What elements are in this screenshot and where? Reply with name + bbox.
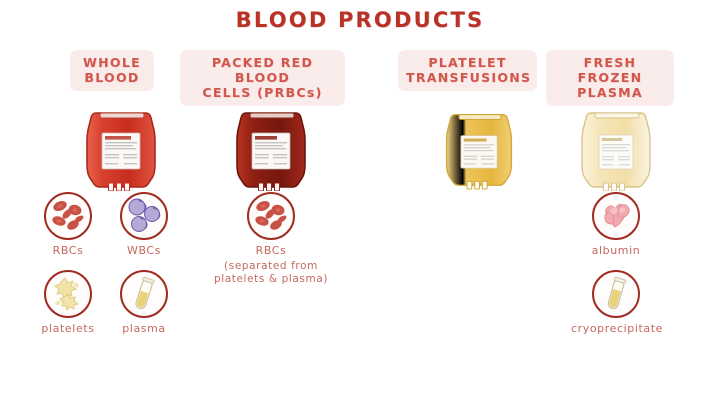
icon-circle-rbcs-separated [247,192,295,240]
whole-blood-bag [78,107,164,191]
header-line: PLASMA [554,85,666,100]
header-line: PLATELET [406,55,529,70]
caption-line: (separated from [196,260,346,273]
column-header-whole-blood: WHOLE BLOOD [70,50,154,91]
header-line: PACKED RED BLOOD [188,55,337,85]
prbc-bag [228,107,314,191]
infographic-canvas: BLOOD PRODUCTS WHOLE BLOOD PACKED RED BL… [0,0,720,404]
caption-platelets: platelets [30,322,106,335]
caption-albumin: albumin [582,244,650,257]
column-header-prbcs: PACKED RED BLOOD CELLS (PRBCs) [180,50,345,106]
icon-circle-albumin [592,192,640,240]
caption-rbcs-separated-detail: (separated from platelets & plasma) [196,260,346,286]
caption-rbcs: RBCs [34,244,102,257]
icon-circle-plasma [120,270,168,318]
header-line: FRESH FROZEN [554,55,666,85]
icon-circle-wbcs [120,192,168,240]
caption-plasma: plasma [108,322,180,335]
caption-cryoprecipitate: cryoprecipitate [558,322,676,335]
icon-circle-cryoprecipitate [592,270,640,318]
plasma-bag [573,107,659,191]
icon-circle-platelets [44,270,92,318]
header-line: TRANSFUSIONS [406,70,529,85]
column-header-fresh-frozen-plasma: FRESH FROZEN PLASMA [546,50,674,106]
caption-line: platelets & plasma) [196,273,346,286]
icon-circle-rbcs [44,192,92,240]
caption-rbcs-separated: RBCs [231,244,311,257]
header-line: WHOLE [78,55,146,70]
caption-wbcs: WBCs [110,244,178,257]
column-header-platelet-transfusions: PLATELET TRANSFUSIONS [398,50,537,91]
header-line: CELLS (PRBCs) [188,85,337,100]
page-title: BLOOD PRODUCTS [0,8,720,32]
platelet-bag [438,107,520,191]
header-line: BLOOD [78,70,146,85]
